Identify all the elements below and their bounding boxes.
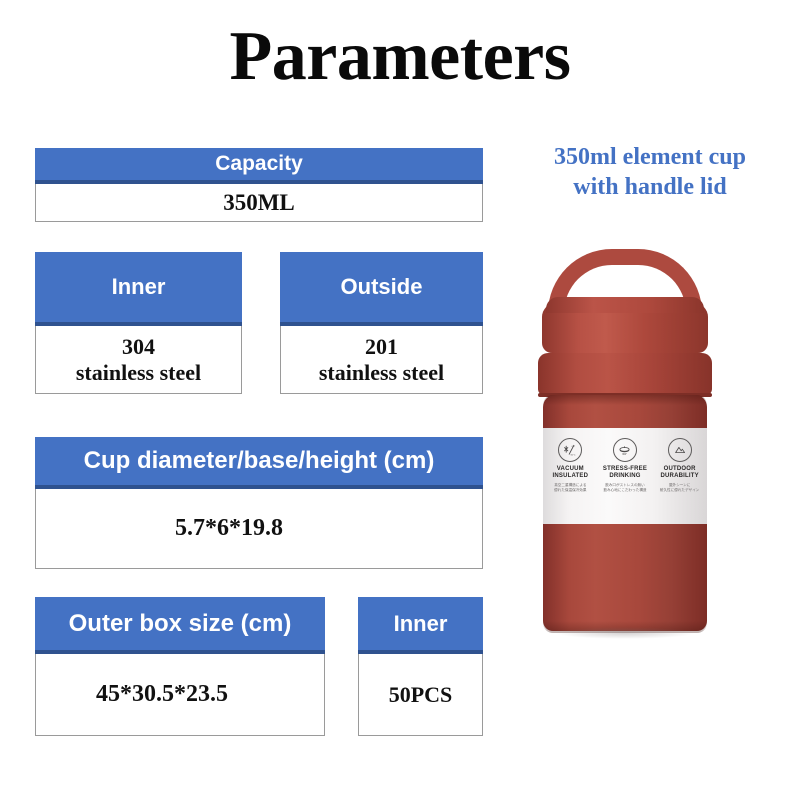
spec-value-inner-quantity: 50PCS [358, 654, 483, 736]
outside-material-type: stainless steel [319, 360, 444, 386]
spec-header-outside-material: Outside [280, 252, 483, 326]
parameters-page: Parameters Capacity 350ML Inner 304 stai… [0, 0, 800, 800]
product-caption-line1: 350ml element cup [505, 142, 795, 172]
bottle-body-top-shadow [543, 395, 707, 405]
spec-block-capacity: Capacity 350ML [35, 148, 483, 222]
spec-block-dimensions: Cup diameter/base/height (cm) 5.7*6*19.8 [35, 437, 483, 569]
spec-block-inner-quantity: Inner 50PCS [358, 597, 483, 736]
svg-text:360°: 360° [623, 452, 628, 455]
label-feature-item: 360° STRESS-FREE DRINKING 飲み口がストレスの無い飲み心… [600, 438, 650, 492]
spec-header-capacity: Capacity [35, 148, 483, 184]
label-feature-line1: VACUUM [545, 466, 595, 473]
label-feature-line2: INSULATED [545, 473, 595, 480]
label-feature-subtext: 屋外シーンに耐久性に優れたデザイン [655, 483, 705, 492]
mountain-icon [668, 438, 692, 462]
spec-value-outside-material: 201 stainless steel [280, 326, 483, 394]
spec-value-inner-material: 304 stainless steel [35, 326, 242, 394]
spec-value-outer-box: 45*30.5*23.5 [35, 654, 325, 736]
product-caption: 350ml element cup with handle lid [505, 142, 795, 202]
label-feature-subtext: 真空二重構造による優れた保温保冷効果 [545, 483, 595, 492]
spec-header-dimensions: Cup diameter/base/height (cm) [35, 437, 483, 489]
svg-text:60°C: 60°C [571, 454, 576, 456]
product-photo: 0°C 60°C VACUUM INSULATED 真空二重構造による優れた保温… [500, 235, 800, 655]
label-feature-list: 0°C 60°C VACUUM INSULATED 真空二重構造による優れた保温… [543, 438, 707, 524]
label-feature-line2: DURABILITY [655, 473, 705, 480]
inner-material-grade: 304 [122, 334, 155, 360]
svg-text:0°C: 0°C [572, 446, 576, 448]
thermos-bottle-illustration: 0°C 60°C VACUUM INSULATED 真空二重構造による優れた保温… [500, 235, 800, 655]
bottle-collar-ring [538, 353, 712, 395]
spec-value-capacity: 350ML [35, 184, 483, 222]
label-feature-item: 0°C 60°C VACUUM INSULATED 真空二重構造による優れた保温… [545, 438, 595, 492]
label-feature-subtext: 飲み口がストレスの無い飲み心地にこだわった構造 [600, 483, 650, 492]
spec-block-outer-box: Outer box size (cm) 45*30.5*23.5 [35, 597, 325, 736]
spec-block-outside-material: Outside 201 stainless steel [280, 252, 483, 394]
spec-header-inner-quantity: Inner [358, 597, 483, 654]
product-caption-line2: with handle lid [505, 172, 795, 202]
inner-material-type: stainless steel [76, 360, 201, 386]
spec-header-outer-box: Outer box size (cm) [35, 597, 325, 654]
spec-value-dimensions: 5.7*6*19.8 [35, 489, 483, 569]
label-feature-line2: DRINKING [600, 473, 650, 480]
bottle-lid-cap [542, 303, 708, 353]
page-title: Parameters [0, 18, 800, 96]
cup-rim-360-icon: 360° [613, 438, 637, 462]
bottle-ground-shadow [555, 627, 695, 639]
label-feature-item: OUTDOOR DURABILITY 屋外シーンに耐久性に優れたデザイン [655, 438, 705, 492]
spec-block-inner-material: Inner 304 stainless steel [35, 252, 242, 394]
label-feature-line1: STRESS-FREE [600, 466, 650, 473]
bottle-label-band: 0°C 60°C VACUUM INSULATED 真空二重構造による優れた保温… [543, 428, 707, 524]
outside-material-grade: 201 [365, 334, 398, 360]
spec-header-inner-material: Inner [35, 252, 242, 326]
snowflake-icon: 0°C 60°C [558, 438, 582, 462]
label-feature-line1: OUTDOOR [655, 466, 705, 473]
